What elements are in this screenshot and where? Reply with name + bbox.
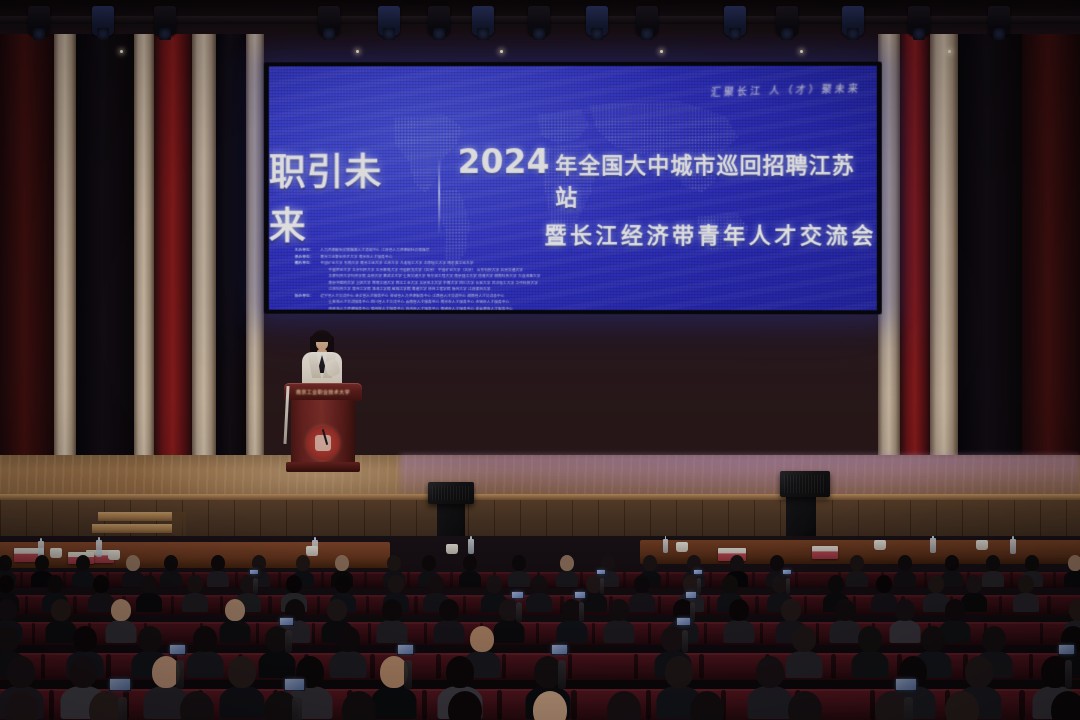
person-head [982,626,1006,652]
seat-divider [592,623,596,644]
person-head [76,555,90,571]
audience-person [680,691,734,720]
person-head [0,555,12,571]
person-head [0,626,19,652]
stage-light-icon [428,6,450,36]
tea-cup [874,540,886,550]
seat-divider [424,623,428,644]
pilaster-strip [246,0,264,520]
phone-display [280,618,293,625]
audience-person [556,555,578,587]
led-screen-frame: 汇聚长江 人（才）聚未来 职引未来 2024 年全国大中城市巡回招聘江苏站 暨长… [264,62,882,315]
podium: 南京工业职业技术大学 [284,383,362,471]
smartphone-screen [169,644,187,655]
phone-display [552,645,568,654]
person-shoulders [1064,571,1080,587]
stage-light-icon [318,6,340,36]
person-head [486,575,502,593]
audience-person [219,599,250,643]
raised-arm [600,578,604,594]
pilaster-strip [54,0,76,520]
person-head [986,555,1000,571]
raised-arm [285,630,292,653]
audience-person [438,691,492,720]
seat-divider [1019,690,1024,719]
person-head [965,656,993,688]
raised-arm [118,697,127,720]
seat-divider [658,596,661,614]
water-bottle [663,539,668,553]
credit-body: 重庆市人才交流服务中心 四川省人才交流中心 云南省人才服务中心 南京市人才服务中… [329,300,510,305]
credit-label: 协办单位： [295,293,314,298]
phone-display [686,592,697,598]
seat-divider [999,596,1002,614]
podium-label: 南京工业职业技术大学 [284,389,362,396]
person-head [722,575,738,593]
podium-top: 南京工业职业技术大学 [284,383,362,401]
person-head [387,555,401,571]
person-head [966,575,982,593]
tea-cup [108,550,120,560]
person-head [850,555,864,571]
stage-light-icon [776,6,798,36]
water-bottle [468,539,474,554]
seat-divider [795,572,798,587]
credit-body: 中国矿业大学 东南大学 南京工业大学 江苏大学 大连理工大学 太原理工大学 哈尔… [320,261,473,266]
stage-light-icon [988,6,1010,36]
person-head [1069,599,1080,621]
smartphone-screen [397,644,415,655]
person-head [828,575,844,593]
stage-step [98,512,172,521]
person-head [781,599,801,621]
credit-body: 人力资源和社会保障部人才流动中心 江苏省人力资源和社会保障厅 [320,248,429,253]
pilaster-strip [154,0,192,520]
credit-line: 主办单位：人力资源和社会保障部人才流动中心 江苏省人力资源和社会保障厅 [295,248,861,253]
raised-arm [253,578,257,594]
pilaster-strip [900,0,930,520]
phone-display [575,592,586,598]
raised-arm [579,602,585,622]
phone-display [398,645,414,654]
seat-divider [171,596,174,614]
seat-divider [623,572,626,587]
seat-divider [366,596,369,614]
raised-arm [786,578,790,594]
credit-label: 主办单位： [295,248,314,253]
tea-cup [676,542,688,552]
event-title-line-2: 暨长江经济带青年人才交流会 [458,218,877,250]
raised-arm [516,602,522,622]
smartphone-screen [249,569,259,575]
audience-person [330,626,367,678]
person-head [138,626,162,652]
stage-light-icon [472,6,494,36]
event-titles: 2024 年全国大中城市巡回招聘江苏站 暨长江经济带青年人才交流会 [458,142,877,250]
person-head [690,691,724,720]
person-head [164,555,178,571]
person-head [1018,575,1034,593]
headline-divider [438,159,440,233]
seat-divider [709,572,712,587]
lighting-truss [0,0,1080,34]
person-head [342,691,376,720]
audience-person [851,626,888,678]
phone-display [170,645,186,654]
smartphone-screen [574,591,587,599]
person-head [286,575,302,593]
person-head [729,599,749,621]
seat-divider [752,572,755,587]
audience-person [332,691,386,720]
credit-line: 南京中医药大学 重庆大学 西南交通大学 西北工业大学 北京化工大学 中南大学 四… [295,280,861,285]
person-head [607,691,641,720]
person-shoulders [434,620,465,643]
seat-divider [666,572,669,587]
person-shoulders [526,593,552,612]
smartphone-screen [1058,644,1076,655]
credit-body: 太原科技大学科技学院 吉林大学 黑龙江大学 重庆交通大学 哈尔滨工程大学 南京理… [329,274,541,279]
audience-person [160,555,182,587]
seat-divider [831,654,836,679]
audience-person [0,691,49,720]
person-shoulders [136,593,162,612]
smartphone-screen [693,569,703,575]
pilaster-strip [0,0,54,520]
person-head [0,599,17,621]
raised-arm [904,697,913,720]
person-head [1025,555,1039,571]
seat-divider [317,596,320,614]
seat-divider [49,690,54,719]
raised-arm [1065,660,1073,689]
smartphone-screen [511,591,524,599]
person-head [187,575,203,593]
phone-display [597,570,605,574]
seat-divider [312,623,316,644]
phone-display [896,679,915,690]
person-head [126,555,140,571]
person-head [898,555,912,571]
credit-body: 徐州市人力资源服务中心 常州市人才服务中心 苏州市人才服务中心 南通市人才服务中… [329,306,513,310]
seat-divider [1040,623,1044,644]
led-screen: 汇聚长江 人（才）聚未来 职引未来 2024 年全国大中城市巡回招聘江苏站 暨长… [269,66,877,311]
person-head [0,575,14,593]
person-head [756,656,784,688]
person-head [1051,691,1080,720]
person-head [93,575,109,593]
seat-divider [20,572,23,587]
audience-person [434,599,465,643]
phone-display [1059,645,1075,654]
audience-person [459,555,481,587]
person-shoulders [556,620,587,643]
person-head [945,691,979,720]
person-head [531,575,547,593]
event-year: 2024 [458,142,550,181]
organizer-credits: 主办单位：人力资源和社会保障部人才流动中心 江苏省人力资源和社会保障厅承办单位：… [295,248,861,310]
audience-person [1041,691,1080,720]
credit-label: 承办单位： [295,254,314,259]
person-head [69,656,97,688]
seat-divider [704,623,708,644]
stage-light-icon [586,6,608,36]
person-head [225,599,245,621]
smartphone-screen [284,678,305,691]
person-head [876,575,892,593]
audience-person [1064,555,1080,587]
raised-arm [558,660,566,689]
person-head [296,555,310,571]
person-shoulders [723,620,754,643]
raised-arm [292,697,301,720]
person-head [945,555,959,571]
seat-divider [321,572,324,587]
raised-arm [697,578,701,594]
seat-divider [502,654,507,679]
person-head [141,575,157,593]
person-head [470,626,494,652]
pilaster-strip [958,0,1022,520]
smartphone-screen [685,591,698,599]
stage-light-icon [528,6,550,36]
stage-light-icon [154,6,176,36]
person-head [560,555,574,571]
stage-step [92,524,172,533]
credit-body: 辽宁省人才交流中心 浙江省人才服务中心 安徽省人力资源服务中心 江西省人才交流中… [320,293,504,298]
audience-person [182,575,208,612]
person-head [945,599,965,621]
phone-display [677,618,690,625]
person-head [665,656,693,688]
stage-light-icon [92,6,114,36]
audience-person [723,599,754,643]
audience-person [935,691,989,720]
stage-monitor-speaker [780,471,830,497]
ceiling-downlight-icon [948,50,951,53]
audience-person [170,691,224,720]
pilaster-strip [192,0,216,520]
credit-body: 南京工业职业技术大学 南京市人才服务中心 [320,254,392,259]
seat-divider [760,623,764,644]
person-head [35,555,49,571]
ceiling-downlight-icon [120,50,123,53]
person-head [1068,555,1080,571]
audience-person [186,626,223,678]
stage-light-icon [378,6,400,36]
tea-cup [976,540,988,550]
person-head [533,691,567,720]
credit-label: 邀约单位： [295,261,314,266]
audience-person [894,555,916,587]
person-shoulders [182,593,208,612]
credit-body: 中国农业大学 北京科技大学 北京邮电大学 中国政法大学（北京） 中国矿业大学（北… [329,267,523,272]
person-head [228,656,256,688]
person-shoulders [459,571,481,587]
raised-arm [176,660,184,689]
person-shoulders [1013,593,1039,612]
credit-line: 太原科技大学科技学院 吉林大学 黑龙江大学 重庆交通大学 哈尔滨工程大学 南京理… [295,274,861,279]
person-shoulders [330,651,367,678]
water-bottle [930,538,936,553]
ceiling-downlight-icon [500,50,503,53]
ceiling-downlight-icon [356,50,359,53]
phone-display [110,679,129,690]
credit-line: 徐州市人力资源服务中心 常州市人才服务中心 苏州市人才服务中心 南通市人才服务中… [295,306,861,310]
event-title-main: 年全国大中城市巡回招聘江苏站 [555,148,876,212]
person-shoulders [556,571,578,587]
stage-light-icon [636,6,658,36]
pilaster-strip [134,0,154,520]
audience-area [0,536,1080,720]
person-head [634,575,650,593]
person-head [7,656,35,688]
speaker-fringe [312,333,332,342]
credit-line: 江苏科技大学 常州工学院 淮海工学院 盐城工学院 南通大学 徐州工程学院 扬州大… [295,287,861,293]
phone-display [512,592,523,598]
smartphone-screen [676,617,691,626]
smartphone-screen [895,678,916,691]
credit-line: 重庆市人才交流服务中心 四川省人才交流中心 云南省人才服务中心 南京市人才服务中… [295,300,861,306]
stage-light-icon [908,6,930,36]
audience-person [526,575,552,612]
seat-divider [422,690,427,719]
audience-person [597,691,651,720]
person-head [921,626,945,652]
seat-divider [106,654,111,679]
audience-person [1013,575,1039,612]
credit-body: 南京中医药大学 重庆大学 西南交通大学 西北工业大学 北京化工大学 中南大学 四… [329,280,539,285]
person-head [335,555,349,571]
pilaster-strip [1022,0,1080,520]
person-shoulders [207,571,229,587]
pilaster-strip [76,0,134,520]
person-head [193,626,217,652]
name-card [812,546,838,559]
person-head [47,575,63,593]
audience-person [846,555,868,587]
smartphone-screen [551,644,569,655]
person-head [609,599,629,621]
smartphone-screen [782,569,792,575]
seat-divider [648,623,652,644]
stage-monitor-speaker [428,482,474,504]
person-head [788,691,822,720]
person-head [388,575,404,593]
phone-display [250,570,258,574]
credit-body: 江苏科技大学 常州工学院 淮海工学院 盐城工学院 南通大学 徐州工程学院 扬州大… [329,287,491,292]
person-head [895,599,915,621]
audience-person [377,599,408,643]
person-head [858,626,882,652]
person-head [643,555,657,571]
seat-divider [707,596,710,614]
seat-divider [450,572,453,587]
person-shoulders [603,620,634,643]
podium-base [286,462,360,472]
person-head [446,656,474,688]
seat-divider [32,623,36,644]
seat-divider [497,690,502,719]
stage-light-icon [28,6,50,36]
person-head [111,599,131,621]
seat-divider [536,623,540,644]
water-bottle [1010,539,1016,554]
person-shoulders [377,620,408,643]
smartphone-screen [279,617,294,626]
audience-person [523,691,577,720]
person-head [448,691,482,720]
phone-display [783,570,791,574]
person-shoulders [851,651,888,678]
person-head [180,691,214,720]
person-head [336,626,360,652]
seat-divider [1047,596,1050,614]
ceiling-downlight-icon [660,50,663,53]
person-head [439,599,459,621]
stage-light-icon [842,6,864,36]
person-head [51,599,71,621]
credit-line: 承办单位：南京工业职业技术大学 南京市人才服务中心 [295,254,861,259]
person-shoulders [846,571,868,587]
seat-divider [268,596,271,614]
person-head [382,599,402,621]
seat-divider [634,654,639,679]
tea-cup [446,544,458,554]
pilaster-strip [930,0,958,520]
person-head [835,599,855,621]
person-head [335,575,351,593]
person-head [73,626,97,652]
calligraphy-text: 汇聚长江 人（才）聚未来 [710,80,862,99]
person-head [792,626,816,652]
audience-person [207,555,229,587]
credit-line: 中国农业大学 北京科技大学 北京邮电大学 中国政法大学（北京） 中国矿业大学（北… [295,267,861,272]
person-shoulders [186,651,223,678]
seat-divider [414,596,417,614]
water-bottle [96,540,102,557]
screen-headline: 职引未来 2024 年全国大中城市巡回招聘江苏站 暨长江经济带青年人才交流会 [269,142,877,250]
event-title-line-1: 2024 年全国大中城市巡回招聘江苏站 [458,142,877,212]
person-head [463,555,477,571]
ceiling-downlight-icon [800,50,803,53]
person-head [422,555,436,571]
phone-display [285,679,304,690]
seat-divider [755,596,758,614]
person-head [327,599,347,621]
credit-line: 协办单位：辽宁省人才交流中心 浙江省人才服务中心 安徽省人力资源服务中心 江西省… [295,293,861,299]
auditorium-photo: 汇聚长江 人（才）聚未来 职引未来 2024 年全国大中城市巡回招聘江苏站 暨长… [0,0,1080,720]
audience-person [603,599,634,643]
pilaster-strip [216,0,246,520]
raised-arm [682,630,689,653]
credit-line: 邀约单位：中国矿业大学 东南大学 南京工业大学 江苏大学 大连理工大学 太原理工… [295,261,861,266]
person-head [5,691,39,720]
person-head [211,555,225,571]
phone-display [694,570,702,574]
seat-divider [364,572,367,587]
person-head [730,555,744,571]
person-shoulders [894,571,916,587]
person-head [512,555,526,571]
stage-edge-trim [0,494,1080,500]
audience-person [136,575,162,612]
person-head [928,575,944,593]
smartphone-screen [109,678,130,691]
event-slogan: 职引未来 [269,142,438,250]
person-shoulders [219,620,250,643]
seat-divider [368,623,372,644]
